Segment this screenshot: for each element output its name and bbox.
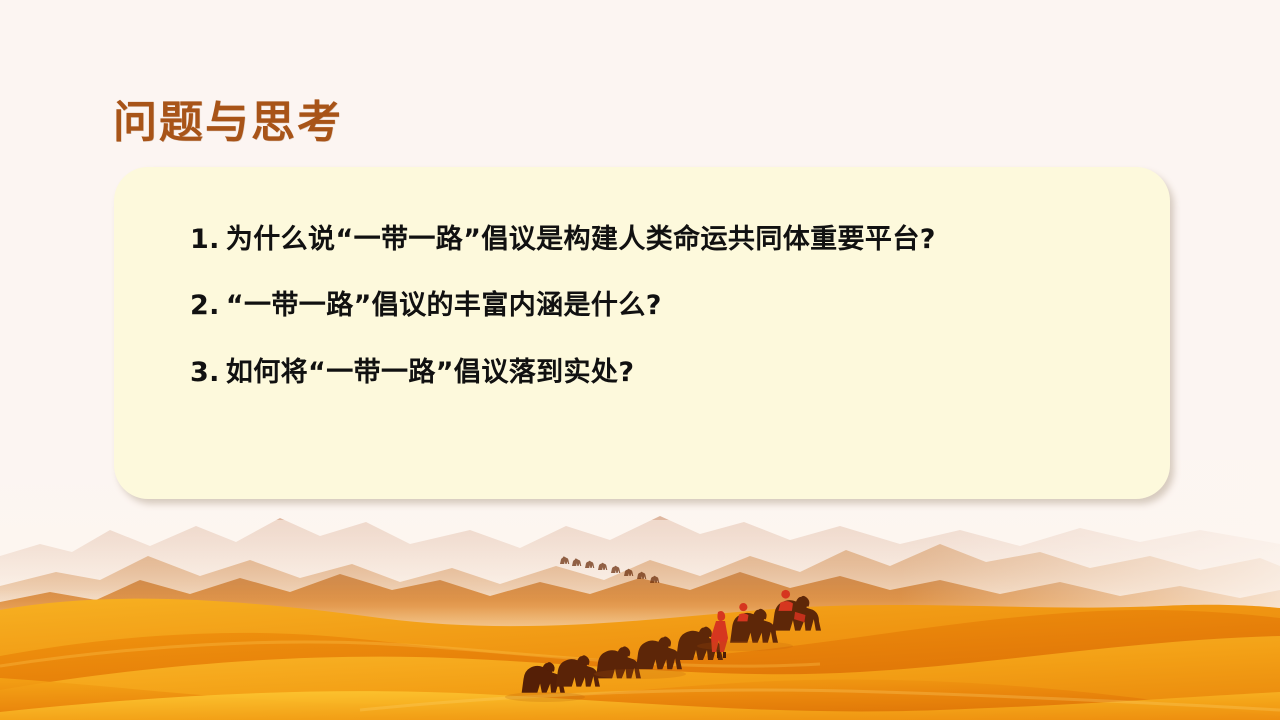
- page-title: 问题与思考: [113, 98, 343, 149]
- scenery-illustration: [0, 460, 1280, 720]
- list-item: 2. “一带一路”倡议的丰富内涵是什么?: [190, 290, 1144, 322]
- question-list: 1. 为什么说“一带一路”倡议是构建人类命运共同体重要平台? 2. “一带一路”…: [190, 224, 1144, 389]
- slide-root: 问题与思考 1. 为什么说“一带一路”倡议是构建人类命运共同体重要平台? 2. …: [0, 0, 1280, 720]
- question-card: 1. 为什么说“一带一路”倡议是构建人类命运共同体重要平台? 2. “一带一路”…: [114, 167, 1170, 499]
- question-number: 2.: [190, 290, 220, 322]
- question-text: “一带一路”倡议的丰富内涵是什么?: [226, 290, 662, 322]
- question-number: 1.: [190, 224, 220, 256]
- question-text: 如何将“一带一路”倡议落到实处?: [226, 357, 635, 389]
- question-text: 为什么说“一带一路”倡议是构建人类命运共同体重要平台?: [226, 224, 936, 256]
- list-item: 3. 如何将“一带一路”倡议落到实处?: [190, 357, 1144, 389]
- list-item: 1. 为什么说“一带一路”倡议是构建人类命运共同体重要平台?: [190, 224, 1144, 256]
- desert-scenery: [0, 460, 1280, 720]
- question-number: 3.: [190, 357, 220, 389]
